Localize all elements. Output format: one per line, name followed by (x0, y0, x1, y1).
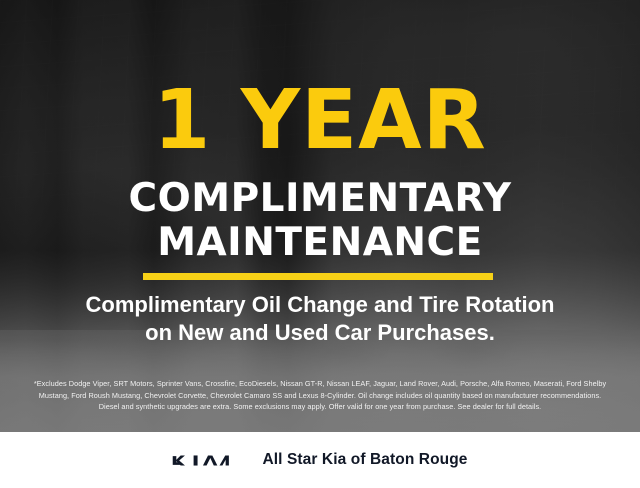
disclaimer-line-2: Mustang, Ford Roush Mustang, Chevrolet C… (16, 390, 624, 402)
yellow-divider-rule (143, 273, 493, 280)
disclaimer-line-1: *Excludes Dodge Viper, SRT Motors, Sprin… (16, 378, 624, 390)
headline-subtitle: COMPLIMENTARY MAINTENANCE (0, 177, 640, 265)
offer-line-1: Complimentary Oil Change and Tire Rotati… (86, 292, 555, 317)
dealer-footer: All Star Kia of Baton Rouge (0, 432, 640, 488)
headline-year: 1 YEAR (0, 80, 640, 162)
hero-content: 1 YEAR COMPLIMENTARY MAINTENANCE Complim… (0, 0, 640, 432)
hero-banner: 1 YEAR COMPLIMENTARY MAINTENANCE Complim… (0, 0, 640, 432)
promo-ad-card: 1 YEAR COMPLIMENTARY MAINTENANCE Complim… (0, 0, 640, 488)
kia-logo-icon (172, 451, 244, 470)
disclaimer-text: *Excludes Dodge Viper, SRT Motors, Sprin… (16, 378, 624, 413)
offer-description: Complimentary Oil Change and Tire Rotati… (0, 291, 640, 347)
disclaimer-line-3: Diesel and synthetic upgrades are extra.… (16, 401, 624, 413)
headline-subtitle-line-2: MAINTENANCE (0, 221, 640, 265)
offer-line-2: on New and Used Car Purchases. (0, 319, 640, 347)
headline-subtitle-line-1: COMPLIMENTARY (128, 176, 511, 221)
dealer-name: All Star Kia of Baton Rouge (262, 451, 467, 469)
